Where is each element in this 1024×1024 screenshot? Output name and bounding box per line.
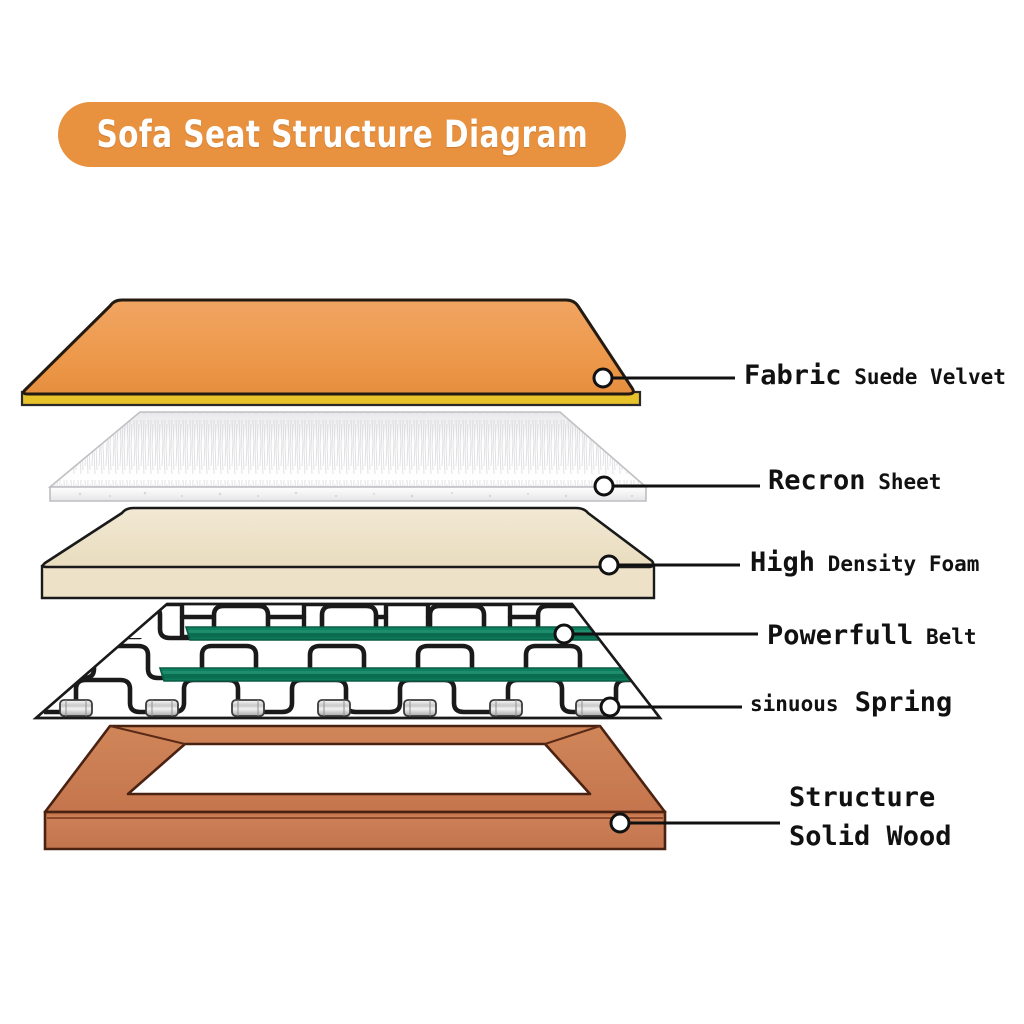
layer-recron-sheet bbox=[50, 412, 646, 501]
layer-fabric-suede-velvet bbox=[22, 300, 640, 405]
recron-side-edge bbox=[50, 487, 646, 501]
spring-clip bbox=[490, 700, 522, 716]
layer-high-density-foam bbox=[42, 508, 654, 598]
foam-top-face bbox=[43, 508, 653, 567]
label-fabric-suede-velvet: Fabric Suede Velvet bbox=[744, 360, 1006, 393]
label-belt-rest: Belt bbox=[913, 625, 976, 649]
label-sinuous-spring: sinuous Spring bbox=[750, 687, 952, 720]
label-structure-solid-wood: Structure Solid Wood bbox=[789, 778, 952, 856]
spring-clip bbox=[146, 700, 178, 716]
label-spring-lead: sinuous bbox=[750, 692, 839, 716]
label-recron-sheet: Recron Sheet bbox=[768, 465, 941, 498]
label-fabric-rest: Suede Velvet bbox=[842, 365, 1006, 389]
layer-structure-solid-wood bbox=[45, 726, 665, 849]
wood-frame-top-face bbox=[45, 726, 665, 812]
callout-marker bbox=[611, 814, 629, 832]
powerfull-belt-2 bbox=[160, 668, 652, 681]
label-foam-lead: High bbox=[750, 547, 815, 578]
callout-marker bbox=[595, 477, 613, 495]
spring-clip bbox=[318, 700, 350, 716]
label-foam-rest: Density Foam bbox=[815, 552, 979, 576]
label-belt-lead: Powerfull bbox=[767, 620, 913, 651]
foam-side-edge bbox=[42, 566, 654, 598]
label-high-density-foam: High Density Foam bbox=[750, 547, 979, 580]
exploded-layers-illustration bbox=[0, 0, 1024, 1024]
spring-clip bbox=[60, 700, 92, 716]
label-fabric-lead: Fabric bbox=[744, 360, 842, 391]
recron-fiber-texture bbox=[50, 412, 646, 487]
layer-sinuous-spring bbox=[36, 604, 744, 718]
label-wood-line2: Solid Wood bbox=[789, 821, 952, 852]
fabric-top-face bbox=[24, 300, 634, 394]
label-powerfull-belt: Powerfull Belt bbox=[767, 620, 977, 653]
spring-clip bbox=[232, 700, 264, 716]
callout-marker bbox=[600, 556, 618, 574]
callout-marker bbox=[555, 625, 573, 643]
label-spring-rest: Spring bbox=[839, 687, 953, 718]
spring-clip bbox=[404, 700, 436, 716]
callout-marker bbox=[601, 698, 619, 716]
label-wood-line1: Structure bbox=[789, 782, 935, 813]
label-recron-rest: Sheet bbox=[866, 470, 942, 494]
label-recron-lead: Recron bbox=[768, 465, 866, 496]
diagram-canvas: Sofa Seat Structure Diagram bbox=[0, 0, 1024, 1024]
callout-marker bbox=[594, 369, 612, 387]
